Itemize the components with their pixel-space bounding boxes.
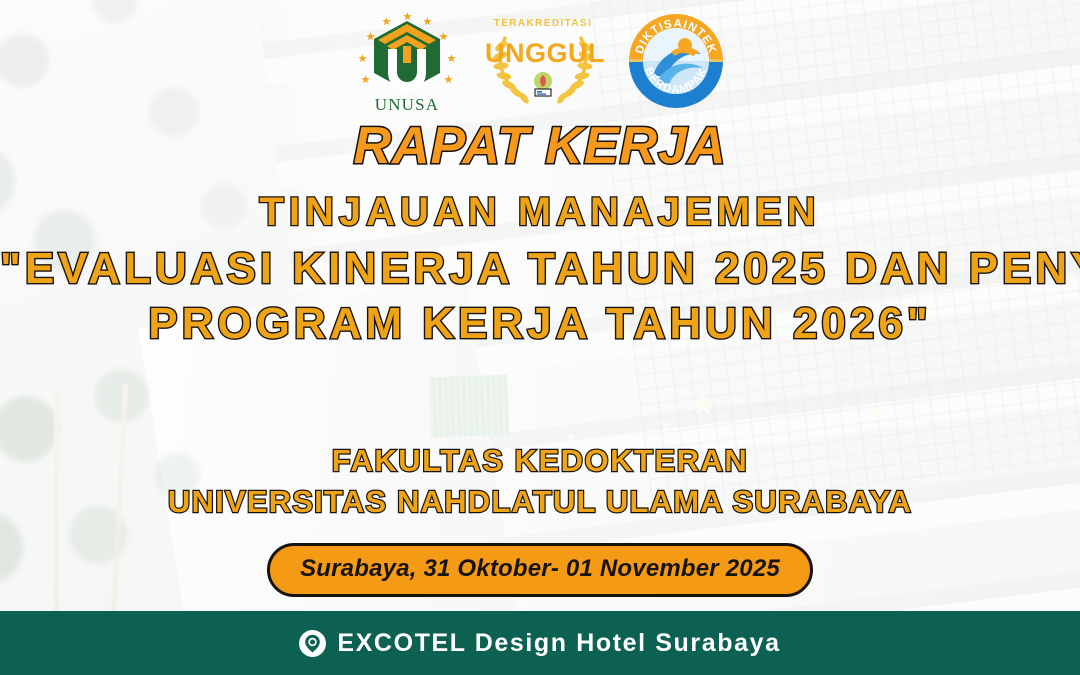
unusa-wordmark: UNUSA bbox=[355, 95, 459, 115]
organizer-faculty: FAKULTAS KEDOKTERAN bbox=[0, 443, 1080, 480]
organizer-university: UNIVERSITAS NAHDLATUL ULAMA SURABAYA bbox=[0, 484, 1080, 521]
star-icon bbox=[444, 75, 453, 84]
headline-program-kerja: PROGRAM KERJA TAHUN 2026" bbox=[0, 299, 1080, 348]
venue-name: EXCOTEL Design Hotel Surabaya bbox=[337, 629, 780, 658]
unusa-emblem-icon bbox=[370, 18, 444, 99]
headline-block: RAPAT KERJA TINJAUAN MANAJEMEN "EVALUASI… bbox=[0, 118, 1080, 349]
headline-rapat-kerja: RAPAT KERJA bbox=[0, 118, 1080, 174]
date-badge: Surabaya, 31 Oktober- 01 November 2025 bbox=[267, 543, 813, 597]
unusa-logo: UNUSA bbox=[355, 12, 459, 116]
headline-evaluasi-kinerja: "EVALUASI KINERJA TAHUN 2025 DAN PENYUSU… bbox=[0, 244, 1080, 293]
location-pin-icon bbox=[299, 630, 326, 657]
terakreditasi-unggul-badge: TERAKREDITASI UNGGUL bbox=[485, 12, 601, 112]
terakreditasi-label: TERAKREDITASI bbox=[485, 18, 601, 30]
date-badge-wrapper: Surabaya, 31 Oktober- 01 November 2025 bbox=[0, 543, 1080, 597]
diktisaintek-berdampak-logo: DIKTISAINTEK BERDAMPAK bbox=[627, 12, 725, 110]
unggul-label: UNGGUL bbox=[485, 38, 601, 69]
banner-canvas: UNUSA bbox=[0, 0, 1080, 675]
venue-bar: EXCOTEL Design Hotel Surabaya bbox=[0, 611, 1080, 675]
star-icon bbox=[447, 54, 456, 63]
star-icon bbox=[358, 54, 367, 63]
accreditation-seal-icon bbox=[528, 71, 558, 102]
logo-row: UNUSA bbox=[0, 12, 1080, 116]
organizer-block: FAKULTAS KEDOKTERAN UNIVERSITAS NAHDLATU… bbox=[0, 443, 1080, 520]
headline-tinjauan-manajemen: TINJAUAN MANAJEMEN bbox=[0, 190, 1080, 234]
star-icon bbox=[361, 75, 370, 84]
